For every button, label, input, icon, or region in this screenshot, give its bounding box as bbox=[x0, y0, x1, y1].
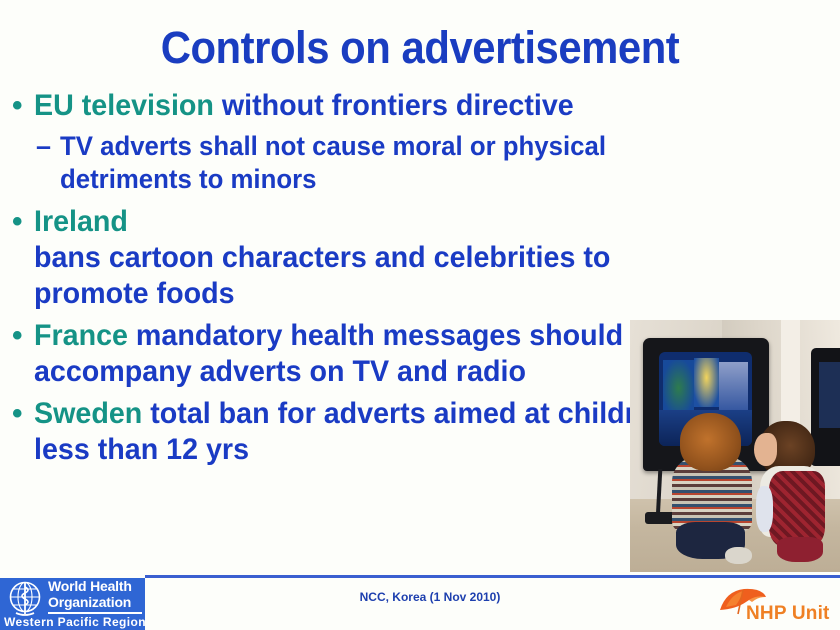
nhp-unit-logo: NHP Unit bbox=[712, 582, 830, 628]
photo-second-tv bbox=[811, 348, 840, 466]
bullet-body-eu: without frontiers directive bbox=[214, 89, 574, 122]
who-emblem-icon bbox=[4, 580, 46, 616]
spacer bbox=[0, 196, 700, 204]
bullet-marker-icon: • bbox=[12, 318, 23, 354]
photo-child-right-leg bbox=[777, 537, 823, 562]
photo-tv-screen-content bbox=[663, 360, 695, 416]
bullet-keyword-sweden: Sweden bbox=[34, 397, 142, 430]
bullet-text-sweden: Sweden total ban for adverts aimed at ch… bbox=[34, 396, 670, 468]
photo-child-right-dress bbox=[769, 471, 826, 547]
photo-child-left-shoe bbox=[725, 547, 752, 565]
bullet-text-eu: EU television without frontiers directiv… bbox=[34, 88, 670, 124]
slide-canvas: Controls on advertisement • EU televisio… bbox=[0, 0, 840, 630]
bullet-item-ireland: • Ireland bans cartoon characters and ce… bbox=[0, 204, 700, 312]
bullet-text-ireland: Ireland bans cartoon characters and cele… bbox=[34, 204, 670, 312]
sub-bullet-item-tv-adverts: – TV adverts shall not cause moral or ph… bbox=[0, 130, 700, 196]
bullet-marker-icon: • bbox=[12, 204, 23, 240]
footer-divider bbox=[145, 575, 840, 578]
who-underline bbox=[48, 612, 142, 614]
who-line-2: Organization bbox=[48, 595, 132, 611]
sub-bullet-dash-icon: – bbox=[36, 130, 51, 163]
who-logo: World Health Organization Western Pacifi… bbox=[0, 578, 145, 630]
bullet-keyword-ireland: Ireland bbox=[34, 205, 128, 238]
bullet-list: • EU television without frontiers direct… bbox=[0, 88, 700, 468]
children-watching-tv-photo bbox=[630, 320, 840, 572]
bullet-text-france: France mandatory health messages should … bbox=[34, 318, 670, 390]
sub-bullet-text-tv-adverts: TV adverts shall not cause moral or phys… bbox=[60, 130, 671, 196]
who-region-label: Western Pacific Region bbox=[4, 615, 145, 629]
bullet-item-sweden: • Sweden total ban for adverts aimed at … bbox=[0, 396, 700, 468]
bullet-keyword-france: France bbox=[34, 319, 128, 352]
bullet-item-france: • France mandatory health messages shoul… bbox=[0, 318, 700, 390]
photo-child-right-face bbox=[754, 433, 777, 466]
bullet-marker-icon: • bbox=[12, 88, 23, 124]
photo-tv-screen-content bbox=[694, 358, 718, 407]
photo-second-tv-screen bbox=[819, 362, 840, 428]
photo-tv-screen-content bbox=[719, 362, 749, 416]
bullet-item-eu: • EU television without frontiers direct… bbox=[0, 88, 700, 124]
who-logo-text: World Health Organization bbox=[48, 579, 132, 610]
photo-child-left-hair bbox=[680, 413, 741, 471]
bullet-body-ireland: bans cartoon characters and celebrities … bbox=[34, 241, 618, 310]
footer-center-text: NCC, Korea (1 Nov 2010) bbox=[270, 590, 590, 604]
photo-child-right-arm bbox=[756, 486, 773, 531]
page-title: Controls on advertisement bbox=[29, 22, 810, 74]
nhp-unit-label: NHP Unit bbox=[746, 603, 830, 625]
bullet-keyword-eu: EU television bbox=[34, 89, 214, 122]
who-line-1: World Health bbox=[48, 579, 132, 595]
bullet-marker-icon: • bbox=[12, 396, 23, 432]
